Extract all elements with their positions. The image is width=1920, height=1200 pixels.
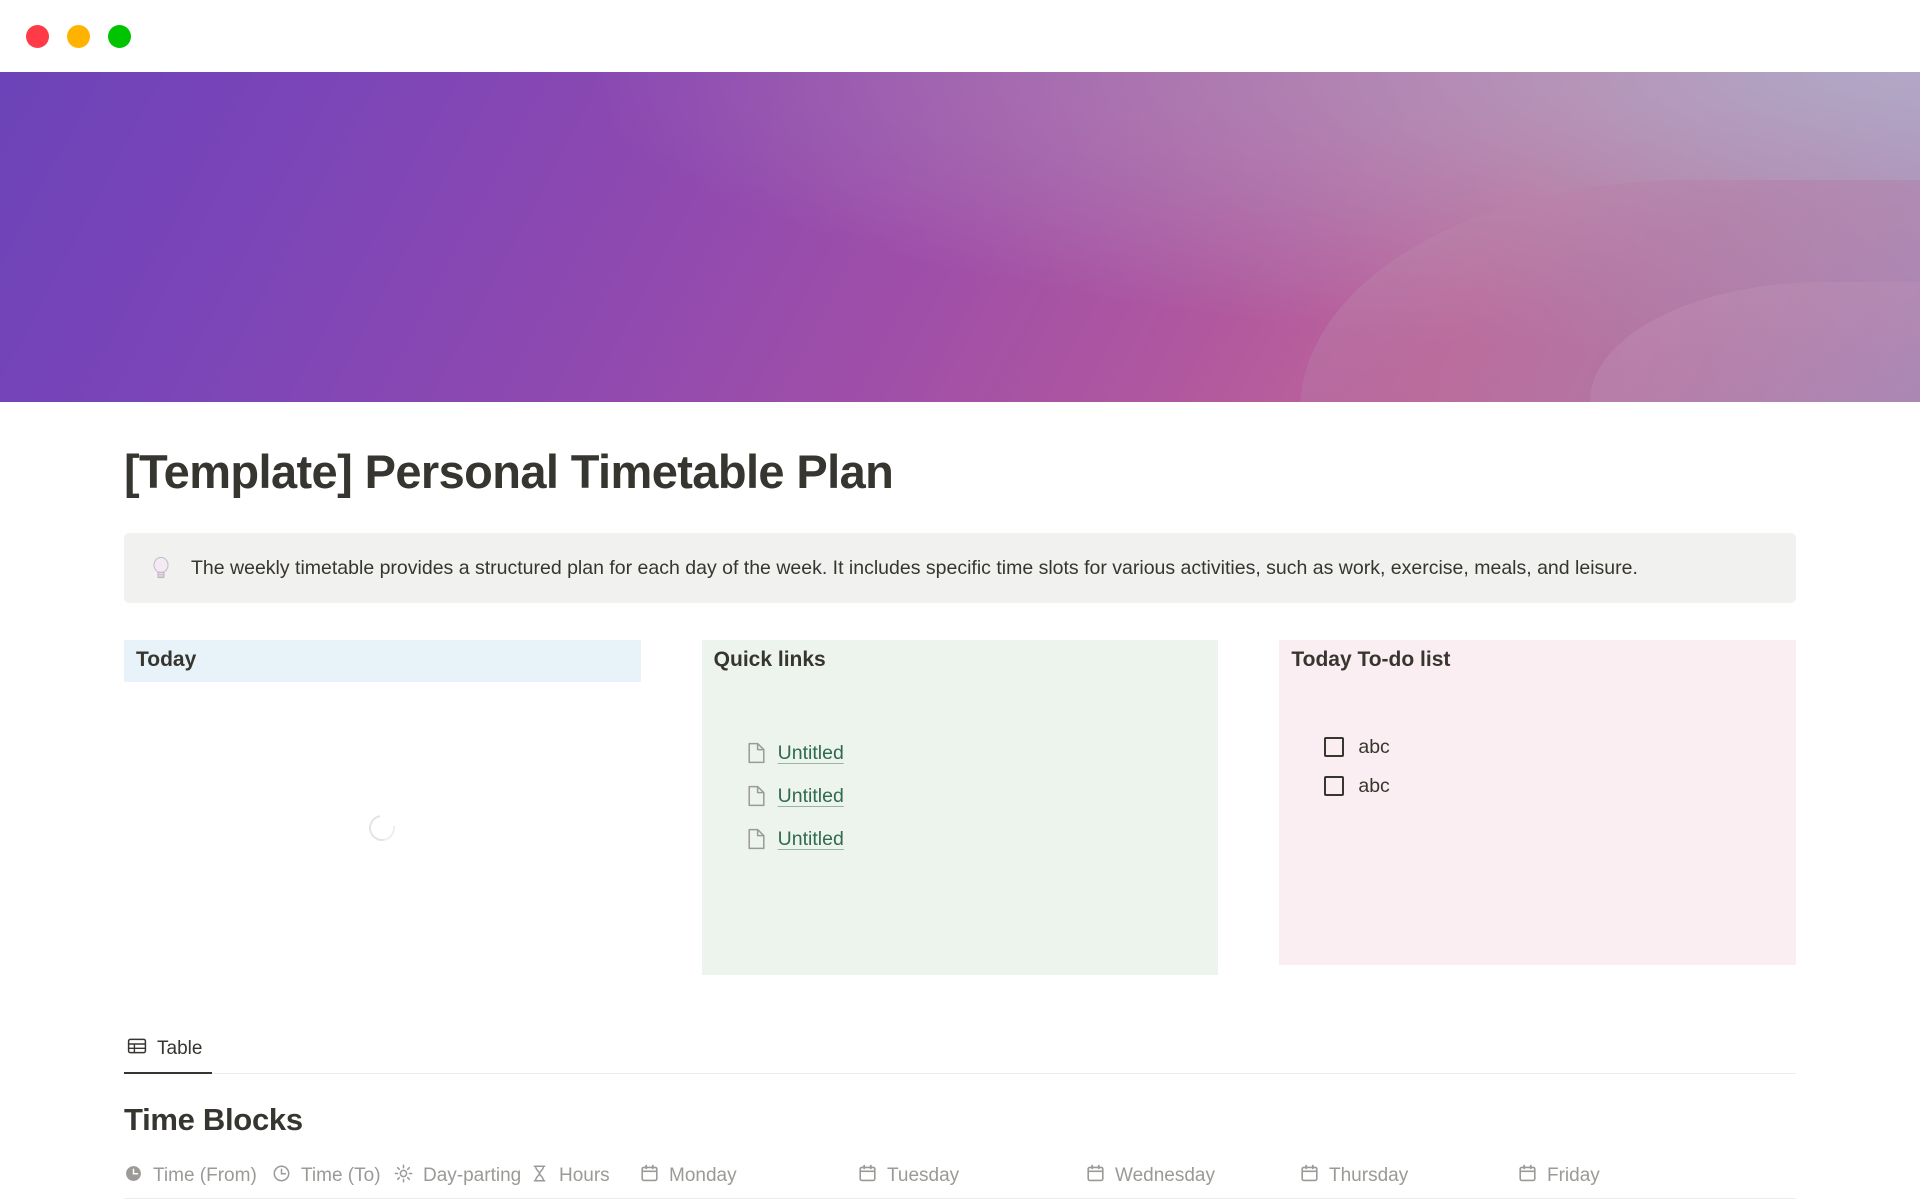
card-today-body: [124, 682, 641, 975]
column-header-day-parting[interactable]: Day-parting: [394, 1154, 530, 1198]
todo-checkbox[interactable]: [1324, 737, 1344, 757]
column-header-label: Friday: [1547, 1165, 1600, 1187]
card-quick-links-body: Untitled Untitled: [702, 682, 1219, 975]
hourglass-icon: [530, 1164, 549, 1188]
card-quick-links-header: Quick links: [702, 640, 1219, 682]
callout-block: The weekly timetable provides a structur…: [124, 533, 1796, 603]
cards-row: Today Quick links: [124, 640, 1796, 975]
calendar-icon: [858, 1164, 877, 1188]
column-header-friday[interactable]: Friday: [1518, 1154, 1698, 1198]
document-icon: [747, 828, 766, 850]
column-header-label: Day-parting: [423, 1165, 521, 1187]
document-icon: [747, 785, 766, 807]
list-item[interactable]: Untitled: [702, 732, 1219, 775]
tab-table-label: Table: [157, 1038, 202, 1060]
card-today: Today: [124, 640, 641, 975]
column-header-label: Hours: [559, 1165, 610, 1187]
column-header-label: Thursday: [1329, 1165, 1408, 1187]
list-item[interactable]: Untitled: [702, 775, 1219, 818]
list-item[interactable]: abc: [1279, 767, 1796, 806]
card-today-header: Today: [124, 640, 641, 682]
list-item-label[interactable]: Untitled: [778, 828, 844, 851]
column-header-label: Time (From): [153, 1165, 257, 1187]
column-header-hours[interactable]: Hours: [530, 1154, 640, 1198]
list-item-label: abc: [1358, 736, 1389, 759]
banner-wave-shape-2: [1590, 282, 1920, 402]
clock-outline-icon: [272, 1164, 291, 1188]
list-item-label[interactable]: Untitled: [778, 742, 844, 765]
database-title: Time Blocks: [124, 1102, 1796, 1138]
column-header-monday[interactable]: Monday: [640, 1154, 858, 1198]
loading-spinner-icon: [364, 810, 400, 846]
column-header-label: Time (To): [301, 1165, 381, 1187]
column-header-time-to[interactable]: Time (To): [272, 1154, 394, 1198]
page-title: [Template] Personal Timetable Plan: [124, 446, 1796, 499]
card-todo-list-header: Today To-do list: [1279, 640, 1796, 682]
callout-text: The weekly timetable provides a structur…: [191, 554, 1638, 582]
calendar-icon: [1518, 1164, 1537, 1188]
window-controls: [26, 25, 131, 48]
calendar-icon: [1086, 1164, 1105, 1188]
list-item-label[interactable]: Untitled: [778, 785, 844, 808]
database-view-tabs: Table: [124, 1027, 1796, 1074]
tab-table[interactable]: Table: [124, 1036, 212, 1074]
close-window-button[interactable]: [26, 25, 49, 48]
maximize-window-button[interactable]: [108, 25, 131, 48]
column-header-time-from[interactable]: Time (From): [124, 1154, 272, 1198]
database-header-row: Time (From) Time (To): [124, 1154, 1796, 1199]
column-header-wednesday[interactable]: Wednesday: [1086, 1154, 1300, 1198]
page-content: [Template] Personal Timetable Plan The w…: [0, 446, 1920, 1199]
column-header-label: Tuesday: [887, 1165, 959, 1187]
sun-icon: [394, 1164, 413, 1188]
list-item-label: abc: [1358, 775, 1389, 798]
page-cover-banner: [0, 72, 1920, 402]
document-icon: [747, 742, 766, 764]
minimize-window-button[interactable]: [67, 25, 90, 48]
todo-checkbox[interactable]: [1324, 776, 1344, 796]
column-header-label: Wednesday: [1115, 1165, 1215, 1187]
window-title-bar: [0, 0, 1920, 72]
card-quick-links: Quick links Untitled: [702, 640, 1219, 975]
column-header-tuesday[interactable]: Tuesday: [858, 1154, 1086, 1198]
card-todo-list-body: abc abc: [1279, 682, 1796, 965]
clock-filled-icon: [124, 1164, 143, 1188]
table-icon: [127, 1036, 147, 1061]
column-header-thursday[interactable]: Thursday: [1300, 1154, 1518, 1198]
calendar-icon: [640, 1164, 659, 1188]
lightbulb-icon: [148, 555, 174, 581]
calendar-icon: [1300, 1164, 1319, 1188]
list-item[interactable]: abc: [1279, 728, 1796, 767]
card-todo-list: Today To-do list abc abc: [1279, 640, 1796, 975]
list-item[interactable]: Untitled: [702, 818, 1219, 861]
banner-wave-shape: [1300, 180, 1920, 402]
column-header-label: Monday: [669, 1165, 737, 1187]
